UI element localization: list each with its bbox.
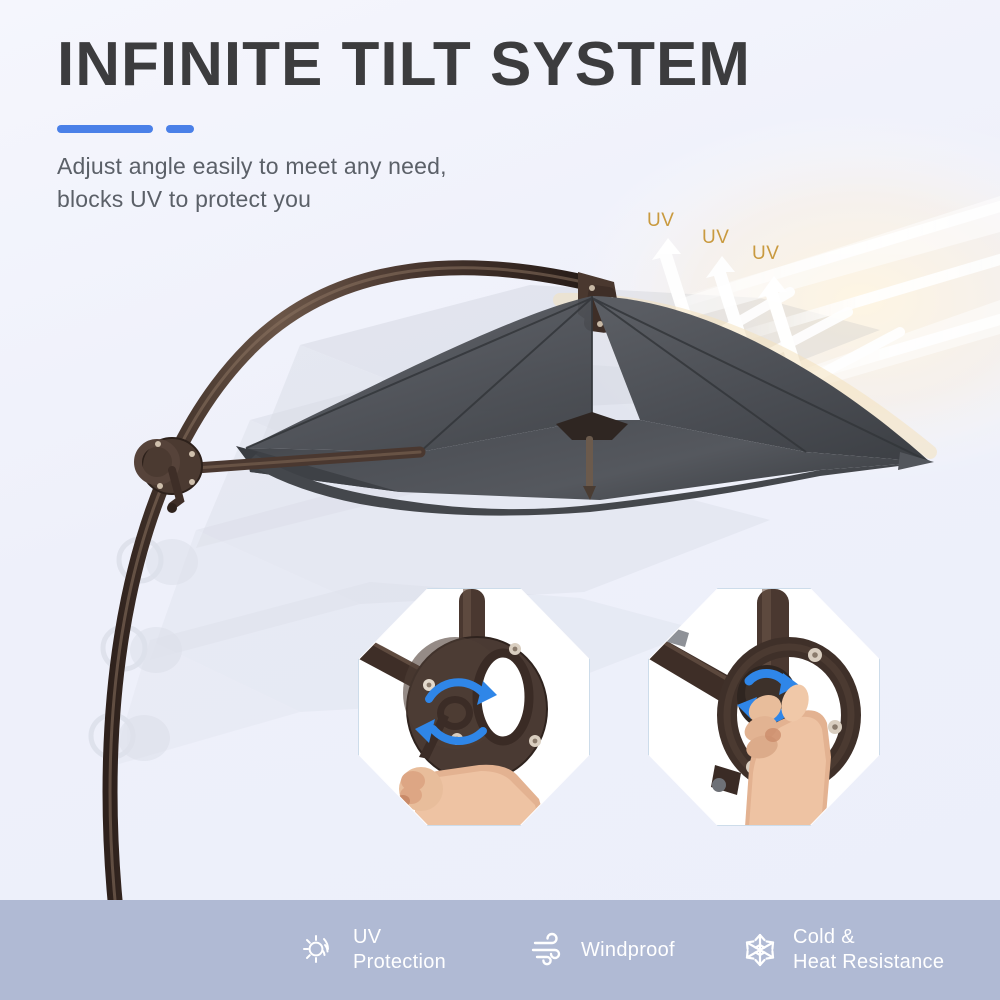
accent-rule: [57, 125, 194, 133]
uv-label-3: UV: [752, 243, 779, 265]
page-title: INFINITE TILT SYSTEM: [57, 34, 937, 96]
tilt-crank-closeup-svg: [359, 589, 589, 825]
feature-label: Cold & Heat Resistance: [793, 925, 944, 975]
accent-bar-long: [57, 125, 153, 133]
wind-icon: [528, 930, 568, 970]
feature-cold-heat-resistance: Cold & Heat Resistance: [740, 925, 944, 975]
feature-label-line-2: Heat Resistance: [793, 950, 944, 975]
accent-bar-short: [166, 125, 194, 133]
feature-label-line-1: Cold &: [793, 925, 944, 950]
uv-label-1: UV: [647, 210, 674, 232]
feature-label-line-1: Windproof: [581, 938, 675, 963]
sun-uv-icon: [300, 930, 340, 970]
feature-label-line-2: Protection: [353, 950, 446, 975]
feature-windproof: Windproof: [528, 930, 675, 970]
feature-label-line-1: UV: [353, 925, 446, 950]
subtitle-line-2: blocks UV to protect you: [57, 183, 447, 216]
subtitle-line-1: Adjust angle easily to meet any need,: [57, 150, 447, 183]
tilt-knob-closeup-svg: [649, 589, 879, 825]
subtitle-block: Adjust angle easily to meet any need, bl…: [57, 150, 447, 215]
snowflake-icon: [740, 930, 780, 970]
feature-uv-protection: UV Protection: [300, 925, 446, 975]
feature-label: UV Protection: [353, 925, 446, 975]
feature-bar: UV Protection Windproof: [0, 900, 1000, 1000]
product-feature-image: UV UV UV INFINITE TILT SYSTEM Adjust ang…: [0, 0, 1000, 1000]
uv-label-2: UV: [702, 227, 729, 249]
header-block: INFINITE TILT SYSTEM: [57, 34, 937, 96]
feature-label: Windproof: [581, 938, 675, 963]
